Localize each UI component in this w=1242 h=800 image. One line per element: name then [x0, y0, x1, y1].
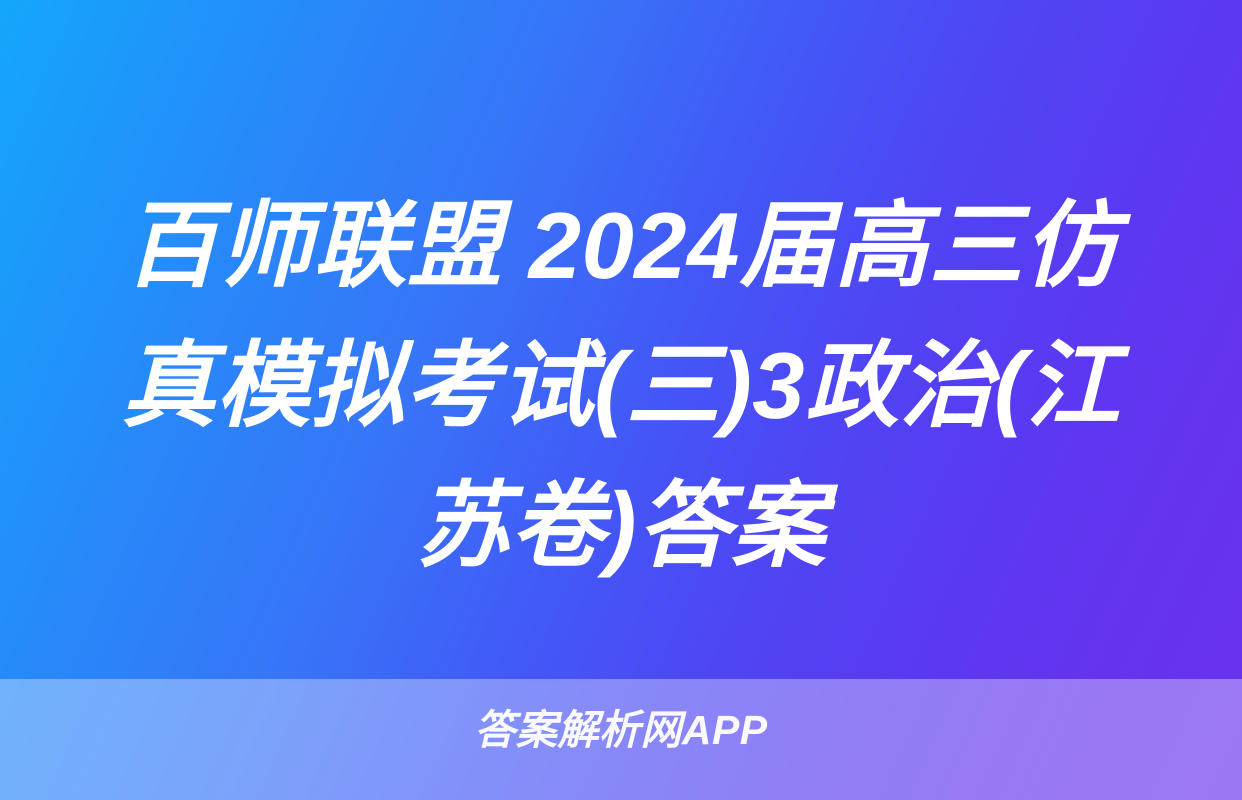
app-watermark-label: 答案解析网APP — [474, 705, 767, 755]
page-title-line-1: 百师联盟 2024届高三仿 — [52, 176, 1190, 316]
app-watermark: 答案解析网APP — [0, 702, 1242, 758]
page-title: 百师联盟 2024届高三仿 真模拟考试(三)3政治(江 苏卷)答案 — [0, 176, 1242, 596]
answer-poster: 百师联盟 2024届高三仿 真模拟考试(三)3政治(江 苏卷)答案 答案解析网A… — [0, 0, 1242, 800]
page-title-line-3: 苏卷)答案 — [52, 456, 1190, 596]
page-title-line-2: 真模拟考试(三)3政治(江 — [52, 316, 1190, 456]
